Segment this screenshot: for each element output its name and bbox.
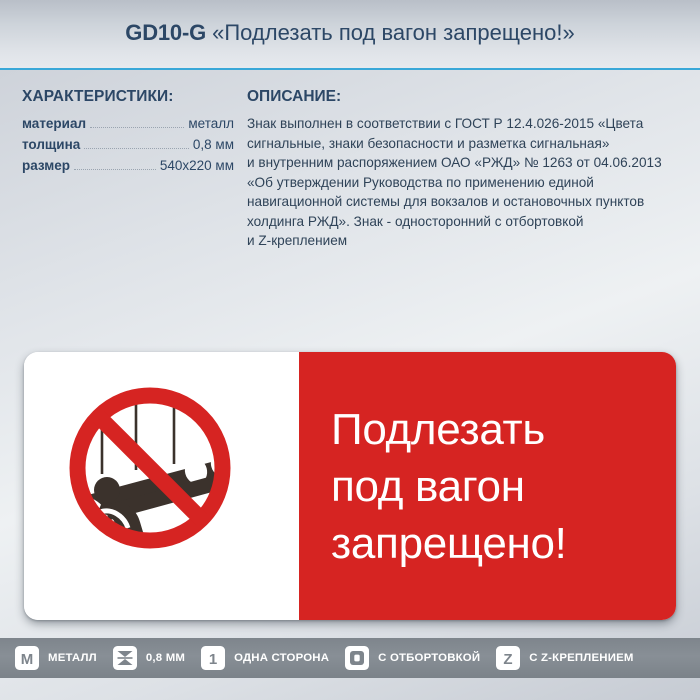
spec-value: 540х220 мм — [160, 155, 234, 176]
description-text: Знак выполнен в соответствии с ГОСТ Р 12… — [247, 114, 692, 251]
description-line: холдинга РЖД». Знак - односторонний с от… — [247, 212, 692, 232]
description-line: и внутренним распоряжением ОАО «РЖД» № 1… — [247, 153, 692, 173]
spec-dot-leader — [84, 148, 189, 149]
footer-attribute-item: MМЕТАЛЛ — [15, 646, 97, 670]
footer-attribute-item: 1ОДНА СТОРОНА — [201, 646, 329, 670]
footer-attribute-label: ОДНА СТОРОНА — [234, 652, 329, 664]
footer-attribute-label: 0,8 ММ — [146, 652, 185, 664]
description-heading: ОПИСАНИЕ: — [247, 88, 692, 106]
spec-row: толщина0,8 мм — [22, 134, 234, 155]
sign-text: Подлезатьпод вагонзапрещено! — [299, 401, 567, 572]
description-block: ОПИСАНИЕ: Знак выполнен в соответствии с… — [247, 88, 692, 251]
svg-text:M: M — [21, 651, 34, 668]
description-line: и Z-креплением — [247, 231, 692, 251]
spec-label: материал — [22, 113, 86, 134]
thickness-icon — [113, 646, 137, 670]
svg-text:Z: Z — [504, 651, 513, 668]
footer-attribute-item: С ОТБОРТОВКОЙ — [345, 646, 480, 670]
spec-row: материалметалл — [22, 113, 234, 134]
description-line: «Об утверждении Руководства по применени… — [247, 173, 692, 193]
spec-label: размер — [22, 155, 70, 176]
footer-attribute-item: 0,8 ММ — [113, 646, 185, 670]
description-line: Знак выполнен в соответствии с ГОСТ Р 12… — [247, 114, 692, 134]
product-code: GD10-G — [125, 20, 206, 45]
page-title: GD10-G «Подлезать под вагон запрещено!» — [0, 20, 700, 46]
sign-text-line: Подлезать — [331, 401, 567, 458]
sign-text-line: под вагон — [331, 458, 567, 515]
one-side-icon: 1 — [201, 646, 225, 670]
specifications-list: материалметаллтолщина0,8 ммразмер540х220… — [22, 113, 234, 176]
z-mount-icon: Z — [496, 646, 520, 670]
sign-preview-panel: Подлезатьпод вагонзапрещено! — [24, 352, 676, 620]
description-line: навигационной системы для вокзалов и ост… — [247, 192, 692, 212]
specifications-block: ХАРАКТЕРИСТИКИ: материалметаллтолщина0,8… — [22, 88, 234, 176]
spec-value: 0,8 мм — [193, 134, 234, 155]
product-name: «Подлезать под вагон запрещено!» — [212, 20, 575, 45]
spec-value: металл — [188, 113, 234, 134]
footer-attribute-label: С Z-КРЕПЛЕНИЕМ — [529, 652, 633, 664]
spec-label: толщина — [22, 134, 80, 155]
flange-icon — [345, 646, 369, 670]
attributes-footer-bar: MМЕТАЛЛ0,8 ММ1ОДНА СТОРОНАС ОТБОРТОВКОЙZ… — [0, 638, 700, 678]
metal-icon: M — [15, 646, 39, 670]
svg-text:1: 1 — [209, 651, 217, 668]
spec-dot-leader — [74, 169, 156, 170]
no-crawling-under-railcar-pictogram — [24, 352, 299, 620]
footer-attribute-label: МЕТАЛЛ — [48, 652, 97, 664]
spec-row: размер540х220 мм — [22, 155, 234, 176]
sign-text-line: запрещено! — [331, 515, 567, 572]
product-card: GD10-G «Подлезать под вагон запрещено!» … — [0, 0, 700, 700]
spec-dot-leader — [90, 127, 184, 128]
footer-attribute-label: С ОТБОРТОВКОЙ — [378, 652, 480, 664]
sign-text-panel: Подлезатьпод вагонзапрещено! — [299, 352, 676, 620]
header-bar: GD10-G «Подлезать под вагон запрещено!» — [0, 0, 700, 70]
sign-pictogram-area — [24, 352, 299, 620]
footer-attribute-item: ZС Z-КРЕПЛЕНИЕМ — [496, 646, 633, 670]
description-line: сигнальные, знаки безопасности и разметк… — [247, 134, 692, 154]
specifications-heading: ХАРАКТЕРИСТИКИ: — [22, 88, 234, 106]
